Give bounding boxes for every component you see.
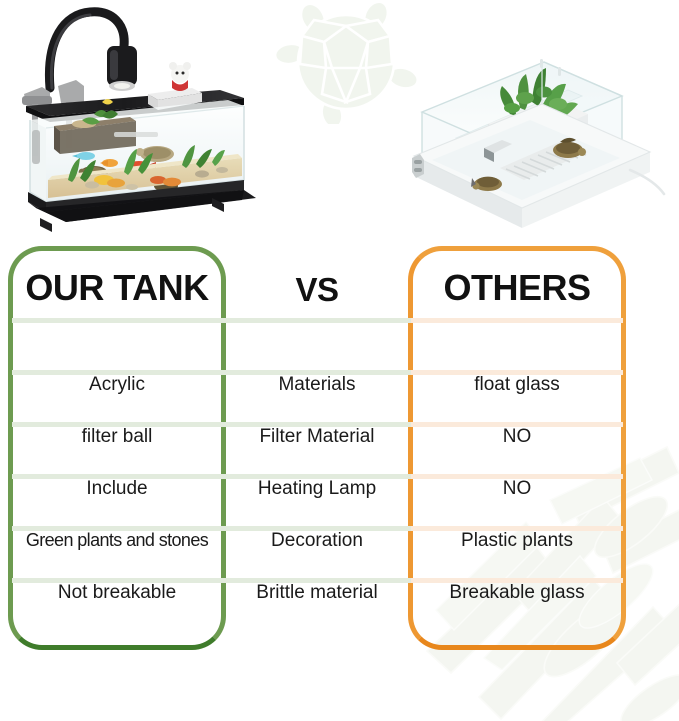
row-separator-orange <box>411 318 623 323</box>
table-row: Green plants and stones <box>8 531 226 549</box>
product-photo-others-tank <box>392 42 672 238</box>
table-row: float glass <box>408 375 626 394</box>
table-row: Brittle material <box>228 583 406 602</box>
product-photo-our-tank <box>6 2 278 242</box>
header-our-tank: OUR TANK <box>8 270 226 306</box>
table-row: Breakable glass <box>408 583 626 602</box>
table-row: Materials <box>228 375 406 394</box>
table-row: NO <box>408 479 626 498</box>
table-row: Decoration <box>228 531 406 550</box>
table-row: Heating Lamp <box>228 479 406 498</box>
comparison-table: OUR TANK VS OTHERS Acrylic M <box>0 246 679 656</box>
header-others: OTHERS <box>408 270 626 306</box>
table-row: Acrylic <box>8 375 226 394</box>
table-row: Filter Material <box>228 427 406 446</box>
table-row: Not breakable <box>8 583 226 602</box>
infographic-canvas: OUR TANK VS OTHERS Acrylic M <box>0 0 679 721</box>
row-separator-green <box>12 318 411 323</box>
table-row: Plastic plants <box>408 531 626 550</box>
table-row: Include <box>8 479 226 498</box>
table-row: NO <box>408 427 626 446</box>
table-row: filter ball <box>8 427 226 446</box>
header-vs: VS <box>228 273 406 306</box>
